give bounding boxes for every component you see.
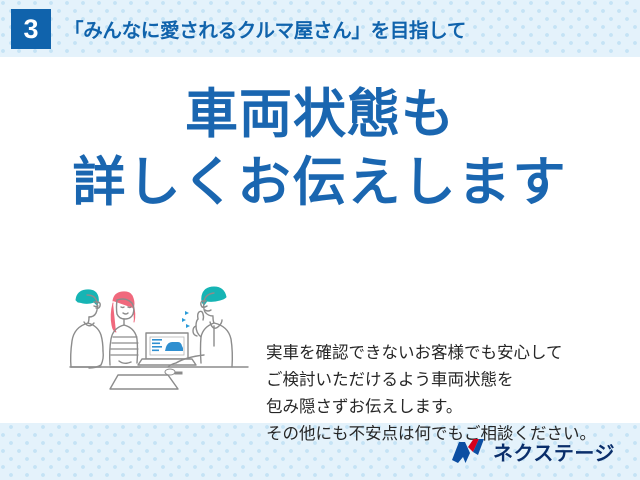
header-title: 「みんなに愛されるクルマ屋さん」を目指して [64, 14, 466, 43]
headline: 車両状態も 詳しくお伝えします [0, 81, 640, 217]
step-number-badge: 3 [11, 9, 51, 49]
banner-footer: ネクステージ [0, 423, 640, 480]
content-card: 車両状態も 詳しくお伝えします [0, 57, 640, 423]
nextage-logo: ネクステージ [452, 436, 615, 466]
banner-header: 3 「みんなに愛されるクルマ屋さん」を目指して [0, 0, 640, 57]
body-text-line-3: 包み隠さずお伝えします。 [266, 393, 632, 420]
body-text-line-1: 実車を確認できないお客様でも安心して [266, 339, 632, 366]
nextage-n-mark-icon [452, 439, 486, 463]
consultation-illustration [58, 271, 258, 396]
promo-banner: 3 「みんなに愛されるクルマ屋さん」を目指して 車両状態も 詳しくお伝えします [0, 0, 640, 480]
body-text-line-2: ご検討いただけるよう車両状態を [266, 366, 632, 393]
lower-section: 実車を確認できないお客様でも安心して ご検討いただけるよう車両状態を 包み隠さず… [0, 271, 640, 423]
nextage-logo-text: ネクステージ [493, 437, 615, 466]
headline-line-2: 詳しくお伝えします [0, 149, 640, 217]
headline-line-1: 車両状態も [0, 81, 640, 149]
